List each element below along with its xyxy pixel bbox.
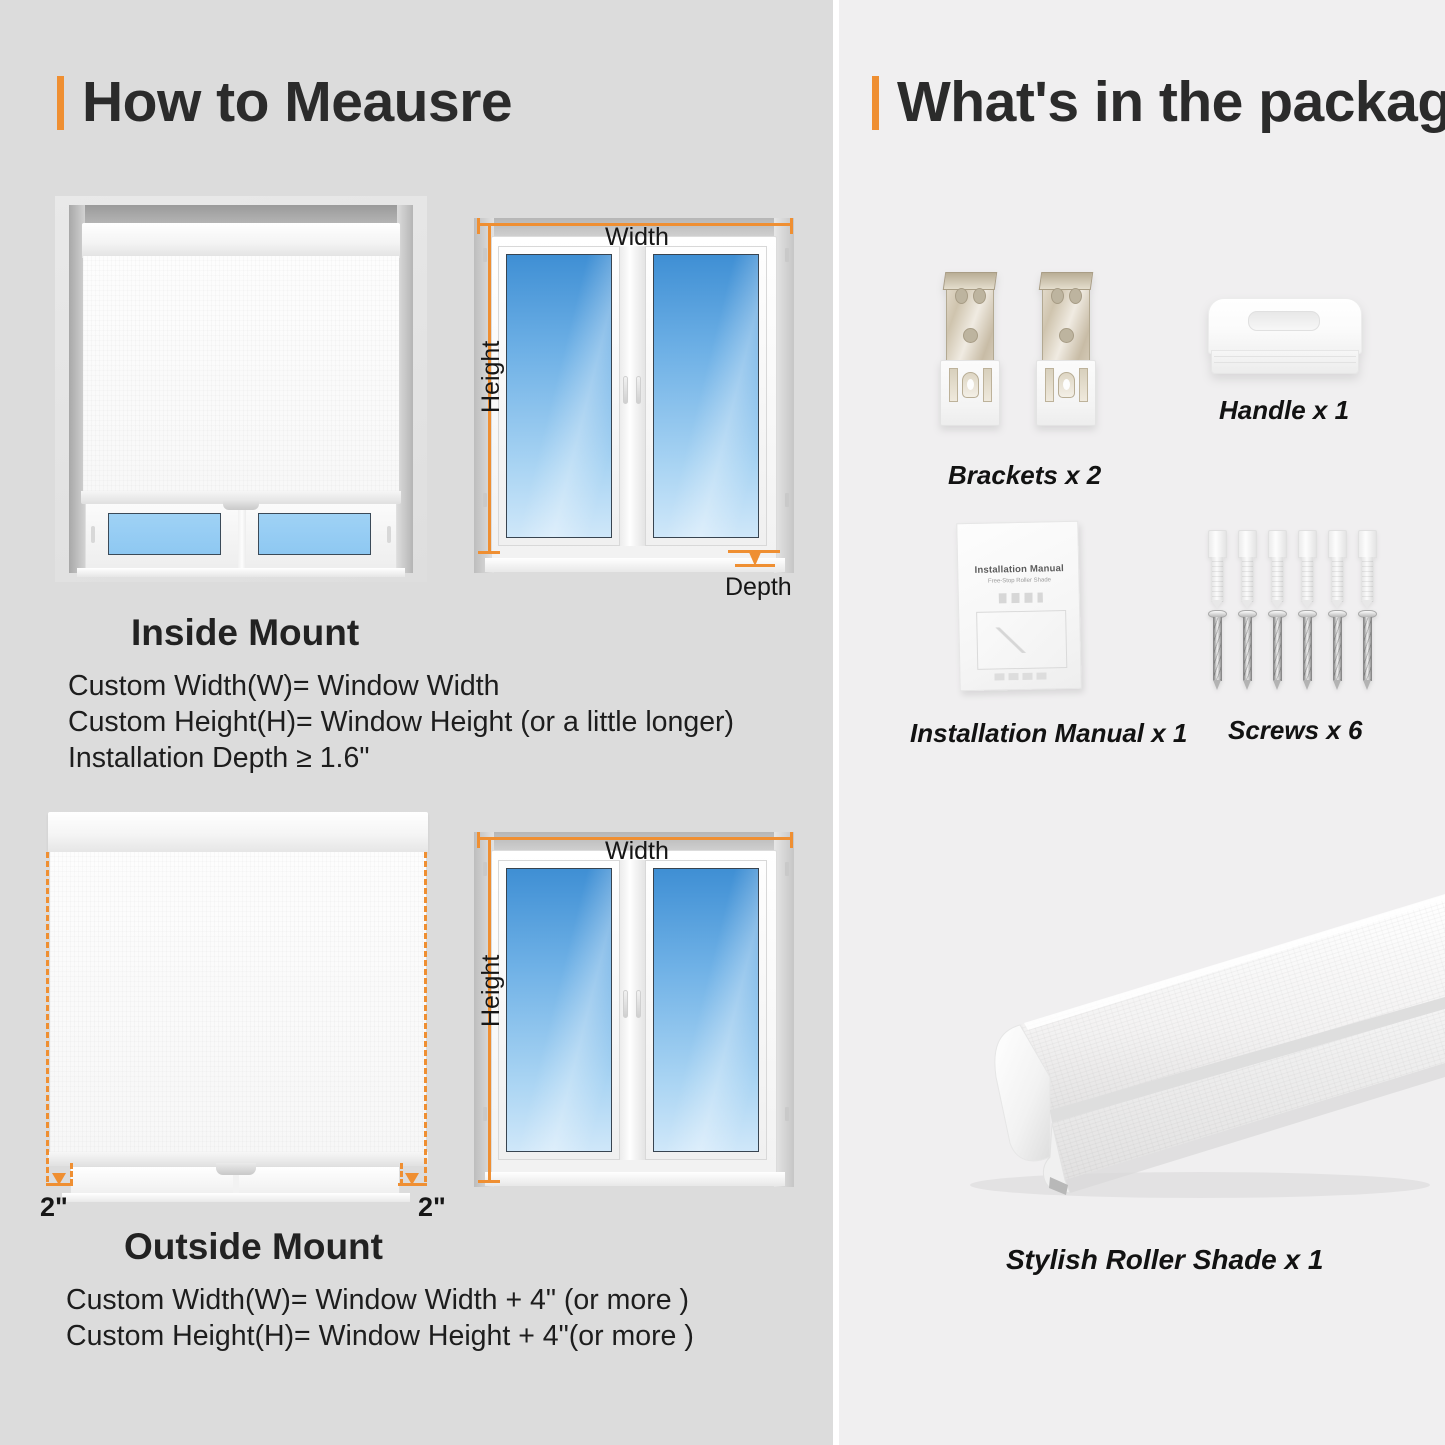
manual-cover-subtitle: Free-Stop Roller Shade xyxy=(958,577,1080,586)
outside-mount-line-width: Custom Width(W)= Window Width + 4" (or m… xyxy=(66,1282,694,1318)
glass-reflection xyxy=(508,254,612,538)
screw-tip xyxy=(1333,680,1341,690)
glass-reflection xyxy=(655,254,759,538)
handle-icon xyxy=(1208,298,1362,376)
outside-mount-illustration xyxy=(28,808,440,1208)
window-reveal-right xyxy=(774,832,794,1187)
screw-tip xyxy=(1213,680,1221,690)
inside-mount-instructions: Custom Width(W)= Window Width Custom Hei… xyxy=(68,668,734,776)
overhang-label-left: 2" xyxy=(40,1192,68,1223)
window-mullion xyxy=(238,503,246,573)
bracket-slot xyxy=(983,368,992,402)
screw-tip xyxy=(1303,680,1311,690)
roller-shade-photo xyxy=(900,885,1445,1215)
bracket-hole xyxy=(955,288,968,304)
screw-tip xyxy=(1363,680,1371,690)
window-reveal-right xyxy=(774,218,794,573)
frame-clip xyxy=(483,1107,487,1121)
screw-shaft xyxy=(1363,617,1372,681)
glass-reflection xyxy=(655,868,759,1152)
screws-label: Screws x 6 xyxy=(1228,715,1362,746)
window-sill xyxy=(77,568,405,577)
bracket-slot xyxy=(949,368,958,402)
inside-mount-line-width: Custom Width(W)= Window Width xyxy=(68,668,734,704)
inside-mount-title: Inside Mount xyxy=(131,612,359,654)
how-to-measure-title: How to Meausre xyxy=(82,74,512,131)
shade-pull-handle xyxy=(216,1163,256,1175)
bracket-top-fold xyxy=(1039,272,1094,290)
window-handle-right xyxy=(387,526,391,543)
window-handle-left xyxy=(623,376,628,404)
shade-headrail xyxy=(48,812,428,852)
screw-icon xyxy=(1238,610,1257,690)
inside-mount-line-depth: Installation Depth ≥ 1.6" xyxy=(68,740,734,776)
anchor-body xyxy=(1331,557,1344,602)
accent-bar-icon xyxy=(872,76,879,130)
window-glass-left xyxy=(506,254,612,538)
inside-mount-illustration xyxy=(55,196,427,582)
depth-measure-baseline xyxy=(735,564,775,567)
bracket-keyhole-center xyxy=(967,379,974,390)
anchor-head xyxy=(1268,530,1287,558)
window-recess-right xyxy=(397,205,413,573)
window-glass-right xyxy=(653,868,759,1152)
width-label: Width xyxy=(605,837,669,866)
brackets-label: Brackets x 2 xyxy=(948,460,1101,491)
handle-ridge xyxy=(1214,362,1356,363)
inside-mount-line-height: Custom Height(H)= Window Height (or a li… xyxy=(68,704,734,740)
bracket-hole xyxy=(963,328,978,343)
bracket-slot xyxy=(1079,368,1088,402)
screw-shaft xyxy=(1243,617,1252,681)
window-glass-left xyxy=(108,513,221,555)
shade-pull-handle xyxy=(223,499,259,510)
frame-clip xyxy=(483,248,487,262)
anchor-head xyxy=(1238,530,1257,558)
how-to-measure-heading: How to Meausre xyxy=(57,74,512,131)
screw-shaft xyxy=(1303,617,1312,681)
window-handle-right xyxy=(636,990,641,1018)
outside-mount-title: Outside Mount xyxy=(124,1226,383,1268)
bracket-hole xyxy=(1051,288,1064,304)
bracket-top-fold xyxy=(943,272,998,290)
anchor-tip xyxy=(1361,600,1373,608)
shade-fabric xyxy=(50,852,426,1152)
height-label: Height xyxy=(477,955,506,1027)
manual-cover-figure-line xyxy=(989,627,1032,654)
handle-label: Handle x 1 xyxy=(1219,395,1349,426)
anchor-tip xyxy=(1211,600,1223,608)
anchor-body xyxy=(1241,557,1254,602)
package-title: What's in the package xyxy=(897,74,1445,131)
manual-cover-detail xyxy=(999,593,1043,604)
bracket-keyhole-center xyxy=(1063,379,1070,390)
overhang-label-right: 2" xyxy=(418,1192,446,1223)
depth-label: Depth xyxy=(725,573,792,602)
bracket-icon xyxy=(940,272,1000,427)
wall-anchor-icon xyxy=(1268,530,1287,602)
anchor-head xyxy=(1298,530,1317,558)
anchor-head xyxy=(1358,530,1377,558)
screw-shaft xyxy=(1273,617,1282,681)
window-handle-left xyxy=(91,526,95,543)
package-heading: What's in the package xyxy=(872,74,1445,131)
window-sill xyxy=(485,1172,785,1186)
wall-anchor-icon xyxy=(1208,530,1227,602)
height-measure-endcap xyxy=(478,223,500,226)
anchor-body xyxy=(1301,557,1314,602)
overhang-guide-left xyxy=(46,852,49,1182)
height-measure-endcap xyxy=(478,837,500,840)
frame-clip xyxy=(785,862,789,876)
roller-shade-label: Stylish Roller Shade x 1 xyxy=(1006,1244,1323,1276)
frame-clip xyxy=(785,248,789,262)
width-measure-endcap xyxy=(477,218,480,234)
screw-tip xyxy=(1273,680,1281,690)
shade-fabric xyxy=(83,256,399,491)
screw-icon xyxy=(1358,610,1377,690)
installation-manual-label: Installation Manual x 1 xyxy=(910,718,1187,749)
screw-shaft xyxy=(1333,617,1342,681)
shade-headrail xyxy=(82,223,400,258)
handle-ridge xyxy=(1214,356,1356,357)
overhang-guide-right xyxy=(424,852,427,1182)
width-label: Width xyxy=(605,223,669,252)
screw-tip xyxy=(1243,680,1251,690)
measure-diagram-inside: Width Height Depth xyxy=(455,198,815,598)
window-sill xyxy=(62,1193,410,1202)
manual-cover-title: Installation Manual xyxy=(958,563,1080,577)
frame-clip xyxy=(483,862,487,876)
anchor-tip xyxy=(1241,600,1253,608)
frame-clip xyxy=(483,493,487,507)
width-measure-endcap xyxy=(790,832,793,848)
measure-diagram-outside: Width Height xyxy=(455,812,815,1212)
infographic-page: How to Meausre xyxy=(0,0,1445,1445)
installation-manual-icon: Installation Manual Free-Stop Roller Sha… xyxy=(956,521,1081,692)
bracket-hole xyxy=(1069,288,1082,304)
frame-clip xyxy=(785,493,789,507)
anchor-body xyxy=(1361,557,1374,602)
anchor-body xyxy=(1211,557,1224,602)
window-glass-right xyxy=(653,254,759,538)
window-glass-right xyxy=(258,513,371,555)
bracket-icon xyxy=(1036,272,1096,427)
outside-mount-instructions: Custom Width(W)= Window Width + 4" (or m… xyxy=(66,1282,694,1354)
anchor-body xyxy=(1271,557,1284,602)
accent-bar-icon xyxy=(57,76,64,130)
window-handle-left xyxy=(623,990,628,1018)
height-label: Height xyxy=(477,341,506,413)
wall-anchor-icon xyxy=(1358,530,1377,602)
anchor-tip xyxy=(1301,600,1313,608)
window-edge-guide-left xyxy=(70,1163,73,1185)
wall-anchor-icon xyxy=(1298,530,1317,602)
anchor-tip xyxy=(1271,600,1283,608)
window-glass-left xyxy=(506,868,612,1152)
bracket-hole xyxy=(973,288,986,304)
screw-icon xyxy=(1298,610,1317,690)
screw-icon xyxy=(1328,610,1347,690)
anchor-head xyxy=(1208,530,1227,558)
bracket-hole xyxy=(1059,328,1074,343)
handle-grip-slot xyxy=(1248,311,1320,331)
manual-cover-footer xyxy=(994,672,1050,680)
height-measure-endcap xyxy=(478,551,500,554)
width-measure-endcap xyxy=(790,218,793,234)
anchor-tip xyxy=(1331,600,1343,608)
wall-anchor-icon xyxy=(1328,530,1347,602)
glass-reflection xyxy=(508,868,612,1152)
width-measure-endcap xyxy=(477,832,480,848)
screw-icon xyxy=(1268,610,1287,690)
window-handle-right xyxy=(636,376,641,404)
bracket-slot xyxy=(1045,368,1054,402)
screw-shaft xyxy=(1213,617,1222,681)
anchor-head xyxy=(1328,530,1347,558)
frame-clip xyxy=(785,1107,789,1121)
height-measure-endcap xyxy=(478,1180,500,1183)
wall-anchor-icon xyxy=(1238,530,1257,602)
window-edge-guide-right xyxy=(400,1163,403,1185)
outside-mount-line-height: Custom Height(H)= Window Height + 4"(or … xyxy=(66,1318,694,1354)
screw-icon xyxy=(1208,610,1227,690)
roller-shade-illustration xyxy=(900,885,1445,1215)
